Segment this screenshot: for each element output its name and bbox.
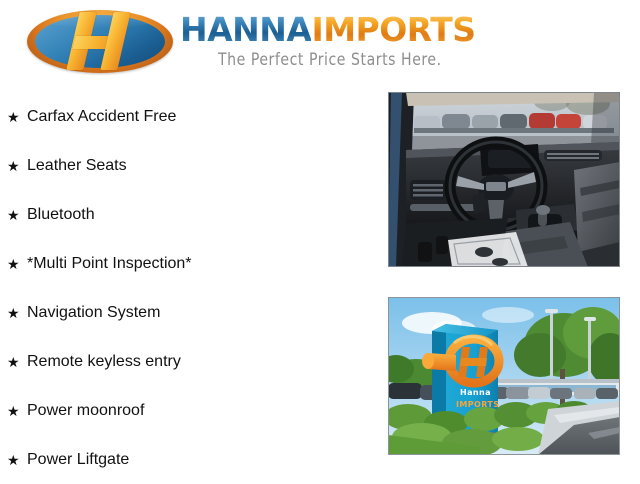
star-bullet-icon: ★ <box>7 208 27 222</box>
star-bullet-icon: ★ <box>7 355 27 369</box>
brand-wordmark-imports: IMPORTS <box>311 10 475 49</box>
list-item-label: Power Liftgate <box>27 451 129 469</box>
svg-text:Hanna: Hanna <box>460 388 491 397</box>
vehicle-interior-photo[interactable] <box>388 92 620 267</box>
star-bullet-icon: ★ <box>7 453 27 467</box>
list-item: ★ Carfax Accident Free <box>0 92 370 141</box>
brand-wordmark-hanna: HANNA <box>180 10 311 49</box>
list-item-label: Power moonroof <box>27 402 144 420</box>
star-bullet-icon: ★ <box>7 404 27 418</box>
list-item-label: Leather Seats <box>27 157 127 175</box>
dealership-sign-illustration: 240 Hanna IMPORTS <box>388 297 620 455</box>
list-item: ★ Power moonroof <box>0 386 370 435</box>
list-item-label: Bluetooth <box>27 206 95 224</box>
list-item-label: Carfax Accident Free <box>27 108 176 126</box>
vehicle-interior-illustration <box>388 92 620 267</box>
brand-wordmark: HANNAIMPORTS <box>180 13 476 46</box>
list-item: ★ *Multi Point Inspection* <box>0 239 370 288</box>
brand-header: HANNAIMPORTS The Perfect Price Starts He… <box>0 0 640 86</box>
list-item-label: Remote keyless entry <box>27 353 181 371</box>
dealership-sign-photo[interactable]: 240 Hanna IMPORTS <box>388 297 620 455</box>
list-item-label: *Multi Point Inspection* <box>27 255 192 273</box>
star-bullet-icon: ★ <box>7 257 27 271</box>
list-item: ★ Navigation System <box>0 288 370 337</box>
list-item: ★ Leather Seats <box>0 141 370 190</box>
list-item: ★ Bluetooth <box>0 190 370 239</box>
brand-tagline: The Perfect Price Starts Here. <box>218 50 442 70</box>
star-bullet-icon: ★ <box>7 306 27 320</box>
list-item: ★ Remote keyless entry <box>0 337 370 386</box>
hanna-oval-h-logo-icon <box>27 10 173 73</box>
list-item-label: Navigation System <box>27 304 160 322</box>
vehicle-feature-list: ★ Carfax Accident Free ★ Leather Seats ★… <box>0 92 370 484</box>
star-bullet-icon: ★ <box>7 110 27 124</box>
star-bullet-icon: ★ <box>7 159 27 173</box>
list-item: ★ Power Liftgate <box>0 435 370 484</box>
